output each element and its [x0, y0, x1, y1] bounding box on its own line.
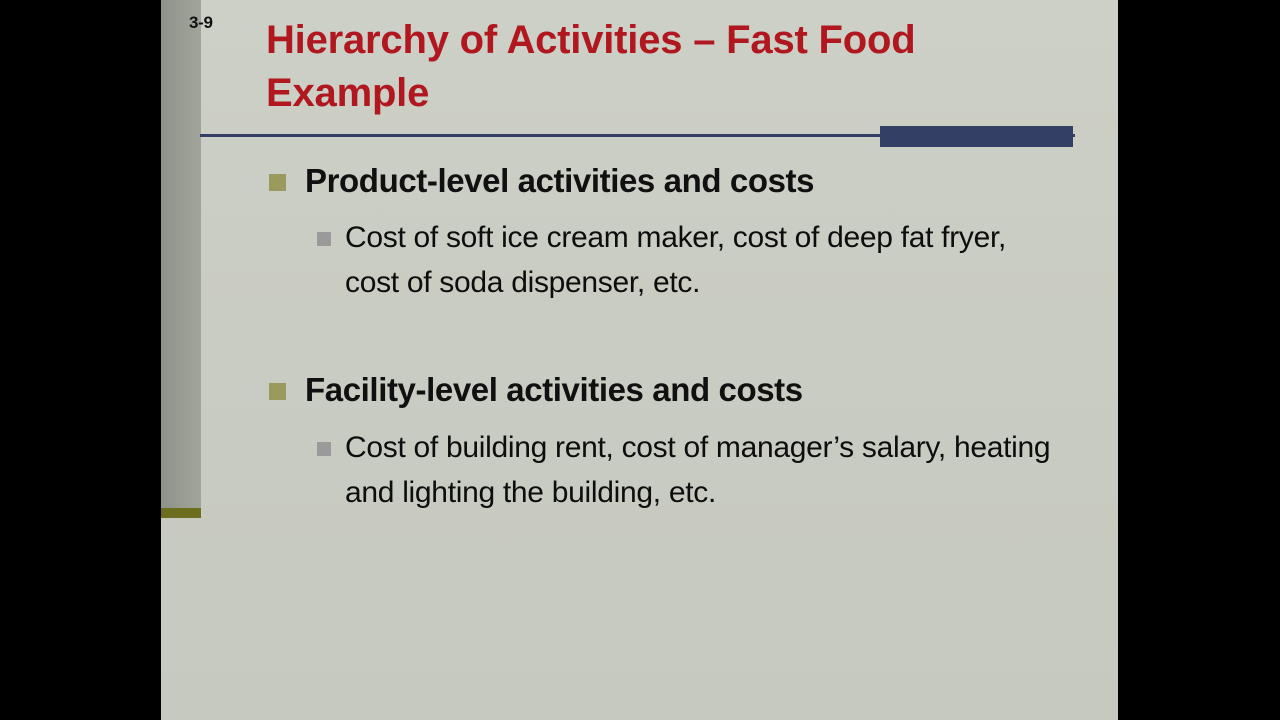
- title-divider-block: [880, 126, 1073, 147]
- bullet-level2-facility: Cost of building rent, cost of manager’s…: [161, 425, 1118, 515]
- letterbox-bar-right: [1118, 0, 1280, 720]
- slide-body: Product-level activities and costs Cost …: [161, 160, 1118, 515]
- letterbox-bar-left: [0, 0, 161, 720]
- bullet-level2-facility-label: Cost of building rent, cost of manager’s…: [345, 431, 1050, 509]
- presentation-slide-viewer: 3-9 Hierarchy of Activities – Fast Food …: [0, 0, 1280, 720]
- bullet-square-icon: [269, 174, 286, 191]
- bullet-level1-product-label: Product-level activities and costs: [305, 162, 814, 199]
- slide-title: Hierarchy of Activities – Fast Food Exam…: [266, 14, 1056, 120]
- bullet-level1-facility-label: Facility-level activities and costs: [305, 371, 803, 408]
- bullet-level2-product-label: Cost of soft ice cream maker, cost of de…: [345, 221, 1006, 299]
- bullet-level2-product: Cost of soft ice cream maker, cost of de…: [161, 215, 1118, 305]
- bullet-level1-product: Product-level activities and costs: [161, 160, 1118, 202]
- bullet-level1-facility: Facility-level activities and costs: [161, 369, 1118, 411]
- bullet-square-icon: [269, 383, 286, 400]
- slide-number: 3-9: [189, 13, 213, 33]
- slide-title-line-2: Example: [266, 67, 1056, 120]
- sub-bullet-square-icon: [317, 442, 331, 456]
- slide-title-line-1: Hierarchy of Activities – Fast Food: [266, 14, 1056, 67]
- sub-bullet-square-icon: [317, 232, 331, 246]
- slide-canvas: 3-9 Hierarchy of Activities – Fast Food …: [161, 0, 1118, 720]
